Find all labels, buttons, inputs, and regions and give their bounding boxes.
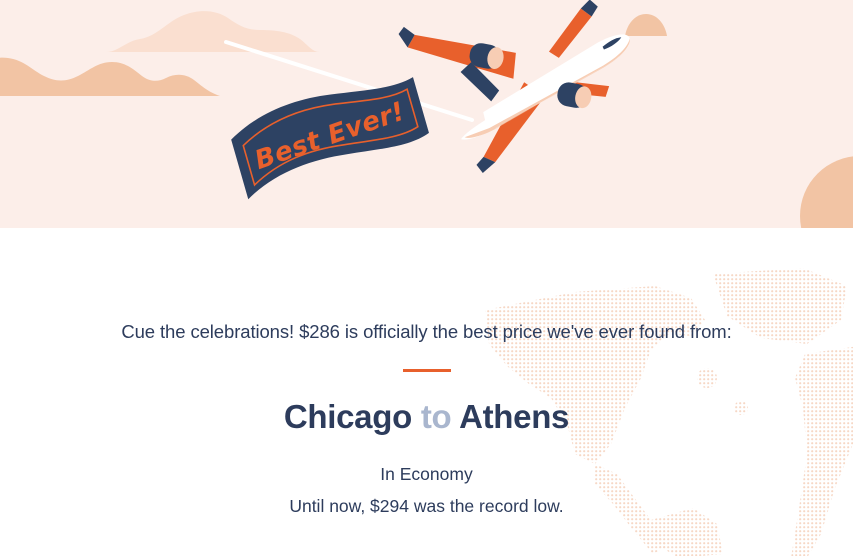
route-heading: Chicago to Athens <box>0 396 853 437</box>
price-alert-content: Cue the celebrations! $286 is officially… <box>0 228 853 556</box>
cloud-left-icon <box>0 56 220 96</box>
cloud-right-dome-icon <box>690 158 853 228</box>
route-connector: to <box>421 398 452 435</box>
divider-rule <box>403 369 451 372</box>
route-origin: Chicago <box>284 398 412 435</box>
lede-text: Cue the celebrations! $286 is officially… <box>0 321 853 343</box>
cloud-upper-left-icon <box>100 8 320 52</box>
route-destination: Athens <box>459 398 569 435</box>
best-ever-banner: Best Ever! <box>232 88 432 198</box>
airplane-icon <box>414 8 654 160</box>
hero-illustration: Best Ever! <box>0 0 853 228</box>
price-alert-page: Best Ever! <box>0 0 853 556</box>
cabin-class-text: In Economy <box>0 464 853 485</box>
previous-record-text: Until now, $294 was the record low. <box>0 496 853 517</box>
